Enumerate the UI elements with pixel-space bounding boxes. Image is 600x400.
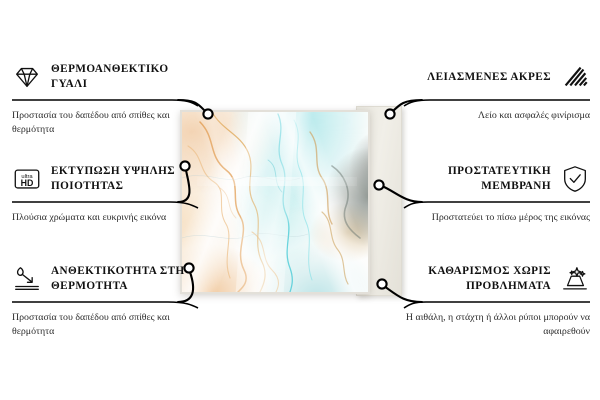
feature-header: ΚΑΘΑΡΙΣΜΟΣ ΧΩΡΙΣ ΠΡΟΒΛΗΜΑΤΑ bbox=[404, 264, 590, 294]
easy-cleaning-icon bbox=[560, 264, 590, 294]
feature-easy-cleaning: ΚΑΘΑΡΙΣΜΟΣ ΧΩΡΙΣ ΠΡΟΒΛΗΜΑΤΑ Η αιθάλη, η … bbox=[404, 264, 590, 339]
marble-artwork bbox=[182, 112, 368, 292]
feature-title: ΑΝΘΕΚΤΙΚΟΤΗΤΑ ΣΤΗ ΘΕΡΜΟΤΗΤΑ bbox=[51, 264, 198, 293]
marble-veins bbox=[182, 112, 368, 292]
feature-rule bbox=[12, 199, 198, 208]
polished-edges-icon bbox=[560, 62, 590, 92]
hd-label: HD bbox=[21, 178, 34, 188]
feature-description: Πλούσια χρώματα και ευκρινής εικόνα bbox=[12, 211, 198, 225]
feature-rule bbox=[404, 199, 590, 208]
feature-title: ΚΑΘΑΡΙΣΜΟΣ ΧΩΡΙΣ ΠΡΟΒΛΗΜΑΤΑ bbox=[404, 264, 551, 293]
feature-header: ΠΡΟΣΤΑΤΕΥΤΙΚΗ ΜΕΜΒΡΑΝΗ bbox=[404, 164, 590, 194]
feature-header: ultra HD ΕΚΤΥΠΩΣΗ ΥΨΗΛΗΣ ΠΟΙΟΤΗΤΑΣ bbox=[12, 164, 198, 194]
feature-title: ΘΕΡΜΟΑΝΘΕΚΤΙΚΟ ΓΥΑΛΙ bbox=[51, 62, 198, 91]
heat-resistance-icon bbox=[12, 264, 42, 294]
feature-header: ΘΕΡΜΟΑΝΘΕΚΤΙΚΟ ΓΥΑΛΙ bbox=[12, 62, 198, 92]
diamond-icon bbox=[12, 62, 42, 92]
feature-rule bbox=[12, 97, 198, 106]
feature-high-quality-print: ultra HD ΕΚΤΥΠΩΣΗ ΥΨΗΛΗΣ ΠΟΙΟΤΗΤΑΣ Πλούσ… bbox=[12, 164, 198, 225]
feature-description: Προστατεύει το πίσω μέρος της εικόνας bbox=[404, 211, 590, 225]
feature-title: ΕΚΤΥΠΩΣΗ ΥΨΗΛΗΣ ΠΟΙΟΤΗΤΑΣ bbox=[51, 164, 198, 193]
feature-title: ΠΡΟΣΤΑΤΕΥΤΙΚΗ ΜΕΜΒΡΑΝΗ bbox=[404, 164, 551, 193]
feature-header: ΑΝΘΕΚΤΙΚΟΤΗΤΑ ΣΤΗ ΘΕΡΜΟΤΗΤΑ bbox=[12, 264, 198, 294]
feature-description: Η αιθάλη, η στάχτη ή άλλοι ρύποι μπορούν… bbox=[404, 311, 590, 339]
ultra-hd-icon: ultra HD bbox=[12, 164, 42, 194]
feature-rule bbox=[12, 299, 198, 308]
feature-rule bbox=[404, 97, 590, 106]
feature-heat-resistance: ΑΝΘΕΚΤΙΚΟΤΗΤΑ ΣΤΗ ΘΕΡΜΟΤΗΤΑ Προστασία το… bbox=[12, 264, 198, 339]
feature-description: Προστασία του δαπέδου από σπίθες και θερ… bbox=[12, 311, 198, 339]
product-image bbox=[180, 110, 400, 290]
feature-title: ΛΕΙΑΣΜΕΝΕΣ ΑΚΡΕΣ bbox=[427, 70, 551, 85]
shield-check-icon bbox=[560, 164, 590, 194]
feature-header: ΛΕΙΑΣΜΕΝΕΣ ΑΚΡΕΣ bbox=[404, 62, 590, 92]
feature-polished-edges: ΛΕΙΑΣΜΕΝΕΣ ΑΚΡΕΣ Λείο και ασφαλές φινίρι… bbox=[404, 62, 590, 123]
feature-description: Προστασία του δαπέδου από σπίθες και θερ… bbox=[12, 109, 198, 137]
feature-description: Λείο και ασφαλές φινίρισμα bbox=[404, 109, 590, 123]
feature-rule bbox=[404, 299, 590, 308]
infographic-canvas: ΘΕΡΜΟΑΝΘΕΚΤΙΚΟ ΓΥΑΛΙ Προστασία του δαπέδ… bbox=[0, 0, 600, 400]
feature-heat-resistant-glass: ΘΕΡΜΟΑΝΘΕΚΤΙΚΟ ΓΥΑΛΙ Προστασία του δαπέδ… bbox=[12, 62, 198, 137]
glass-panel bbox=[180, 110, 370, 294]
feature-protective-membrane: ΠΡΟΣΤΑΤΕΥΤΙΚΗ ΜΕΜΒΡΑΝΗ Προστατεύει το πί… bbox=[404, 164, 590, 225]
